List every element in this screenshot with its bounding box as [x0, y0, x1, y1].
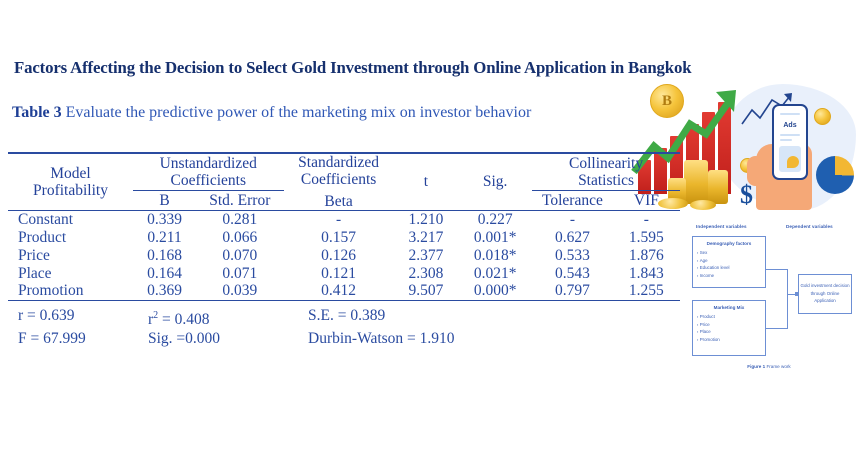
list-item: Sex: [697, 249, 765, 257]
diagram-dependent-label: Dependent variables: [786, 224, 833, 229]
col-header-standardized-line2: Coefficients: [284, 171, 394, 188]
cell-sig: 0.227: [458, 211, 532, 229]
diagram-demography-title: Demography factors: [693, 241, 765, 246]
col-header-t: t: [394, 154, 459, 210]
col-header-model-line1: Model: [8, 165, 133, 182]
connector-mix-horizontal: [766, 328, 788, 329]
cell-tolerance: 0.627: [532, 229, 613, 247]
cell-beta: 0.157: [284, 229, 394, 247]
table-caption: Table 3 Evaluate the predictive power of…: [12, 104, 531, 122]
table-row: Place 0.164 0.071 0.121 2.308 0.021* 0.5…: [8, 265, 680, 283]
cell-model: Place: [8, 265, 133, 283]
cell-std-error: 0.281: [196, 211, 283, 229]
cell-sig: 0.000*: [458, 282, 532, 300]
cell-vif: -: [613, 211, 680, 229]
col-header-standardized: Standardized Coefficients Beta: [284, 154, 394, 210]
framework-diagram: Independent variables Dependent variable…: [682, 222, 856, 382]
table-caption-text: Evaluate the predictive power of the mar…: [66, 104, 532, 121]
table-footer-statistics: r = 0.639 r2 = 0.408 S.E. = 0.389 F = 67…: [8, 301, 680, 350]
regression-table-body: Constant 0.339 0.281 - 1.210 0.227 - - P…: [8, 211, 680, 300]
col-header-std-error: Std. Error: [196, 191, 283, 210]
cell-t: 2.377: [394, 247, 459, 265]
cell-model: Product: [8, 229, 133, 247]
cell-tolerance: 0.543: [532, 265, 613, 283]
regression-table: Model Profitability Unstandardized Coeff…: [8, 154, 680, 210]
cell-b: 0.369: [133, 282, 196, 300]
diagram-box-demography: Demography factors Sex Age Education lev…: [692, 236, 766, 288]
list-item: Age: [697, 257, 765, 265]
footer-row-1: r = 0.639 r2 = 0.408 S.E. = 0.389: [8, 304, 680, 327]
cell-std-error: 0.070: [196, 247, 283, 265]
connector-demography-horizontal: [766, 269, 788, 270]
stat-f: F = 67.999: [18, 327, 86, 350]
col-header-beta: Beta: [284, 193, 394, 210]
cell-b: 0.339: [133, 211, 196, 229]
table-header-group-row: Model Profitability Unstandardized Coeff…: [8, 154, 680, 191]
pie-chart-icon: [816, 156, 854, 194]
cell-tolerance: 0.533: [532, 247, 613, 265]
cell-std-error: 0.039: [196, 282, 283, 300]
diagram-caption-text: Frame work: [766, 364, 790, 369]
stat-r: r = 0.639: [18, 304, 75, 327]
diagram-caption-label: Figure 1: [747, 364, 765, 369]
table-row: Promotion 0.369 0.039 0.412 9.507 0.000*…: [8, 282, 680, 300]
table-row: Constant 0.339 0.281 - 1.210 0.227 - -: [8, 211, 680, 229]
diagram-marketing-mix-list: Product Price Place Promotion: [693, 313, 765, 343]
col-header-unstandardized-line2: Coefficients: [133, 172, 284, 189]
cell-b: 0.211: [133, 229, 196, 247]
col-header-collinearity-line1: Collinearity: [532, 155, 680, 172]
gold-coin-large-icon: B: [650, 84, 684, 118]
cell-sig: 0.001*: [458, 229, 532, 247]
cell-model: Price: [8, 247, 133, 265]
cell-beta: 0.126: [284, 247, 394, 265]
col-header-model: Model Profitability: [8, 154, 133, 210]
col-header-standardized-line1: Standardized: [284, 154, 394, 171]
diagram-box-dependent: Gold investment decision through Online …: [798, 274, 852, 314]
cell-tolerance: -: [532, 211, 613, 229]
list-item: Product: [697, 313, 765, 321]
table-body: Constant 0.339 0.281 - 1.210 0.227 - - P…: [8, 211, 680, 300]
cell-tolerance: 0.797: [532, 282, 613, 300]
col-header-collinearity-line2: Statistics: [532, 172, 680, 189]
col-header-vif: VIF: [613, 191, 680, 210]
list-item: Promotion: [697, 336, 765, 344]
stat-r-squared-value: = 0.408: [158, 311, 209, 328]
cell-std-error: 0.066: [196, 229, 283, 247]
diagram-demography-list: Sex Age Education level Income: [693, 249, 765, 279]
smartphone-icon: Ads: [772, 104, 808, 180]
table-head: Model Profitability Unstandardized Coeff…: [8, 154, 680, 210]
stat-sig: Sig. =0.000: [148, 327, 220, 350]
cell-model: Constant: [8, 211, 133, 229]
cell-beta: 0.121: [284, 265, 394, 283]
table-row: Price 0.168 0.070 0.126 2.377 0.018* 0.5…: [8, 247, 680, 265]
cell-vif: 1.255: [613, 282, 680, 300]
coin-flat-2: [690, 200, 716, 210]
col-header-unstandardized: Unstandardized Coefficients: [133, 154, 284, 191]
coin-stack-2: [708, 170, 728, 204]
gold-coin-small-1-icon: [814, 108, 831, 125]
footer-row-2: F = 67.999 Sig. =0.000 Durbin-Watson = 1…: [8, 327, 680, 350]
cell-sig: 0.018*: [458, 247, 532, 265]
cell-t: 9.507: [394, 282, 459, 300]
table-caption-label: Table 3: [12, 104, 62, 121]
list-item: Price: [697, 321, 765, 329]
cell-model: Promotion: [8, 282, 133, 300]
diagram-dependent-line2: through Online: [799, 290, 851, 298]
cell-t: 1.210: [394, 211, 459, 229]
cell-std-error: 0.071: [196, 265, 283, 283]
list-item: Place: [697, 328, 765, 336]
diagram-independent-label: Independent variables: [696, 224, 747, 229]
stat-standard-error: S.E. = 0.389: [308, 304, 385, 327]
statistics-table: Model Profitability Unstandardized Coeff…: [8, 152, 680, 350]
cell-beta: -: [284, 211, 394, 229]
col-header-unstandardized-line1: Unstandardized: [133, 155, 284, 172]
dollar-sign-icon: $: [740, 180, 753, 210]
col-header-sig: Sig.: [458, 154, 532, 210]
coin-stack-1: [684, 160, 708, 204]
diagram-dependent-line3: Application: [799, 297, 851, 305]
cell-vif: 1.843: [613, 265, 680, 283]
col-header-tolerance: Tolerance: [532, 191, 613, 210]
diagram-marketing-mix-title: Marketing Mix: [693, 305, 765, 310]
connector-vertical: [787, 269, 788, 329]
col-header-collinearity: Collinearity Statistics: [532, 154, 680, 191]
cell-t: 2.308: [394, 265, 459, 283]
stat-durbin-watson: Durbin-Watson = 1.910: [308, 327, 455, 350]
cell-beta: 0.412: [284, 282, 394, 300]
cell-sig: 0.021*: [458, 265, 532, 283]
coin-symbol: B: [651, 85, 683, 117]
cell-vif: 1.595: [613, 229, 680, 247]
page-title: Factors Affecting the Decision to Select…: [14, 58, 856, 78]
cell-b: 0.164: [133, 265, 196, 283]
table-row: Product 0.211 0.066 0.157 3.217 0.001* 0…: [8, 229, 680, 247]
diagram-box-marketing-mix: Marketing Mix Product Price Place Promot…: [692, 300, 766, 356]
diagram-dependent-line1: Gold investment decision: [799, 282, 851, 290]
list-item: Income: [697, 272, 765, 280]
list-item: Education level: [697, 264, 765, 272]
cell-b: 0.168: [133, 247, 196, 265]
col-header-b: B: [133, 191, 196, 210]
cell-t: 3.217: [394, 229, 459, 247]
connector-arrowhead: [795, 292, 799, 296]
phone-ads-label: Ads: [774, 122, 806, 129]
cell-vif: 1.876: [613, 247, 680, 265]
col-header-model-line2: Profitability: [8, 182, 133, 199]
diagram-caption: Figure 1 Frame work: [682, 364, 856, 369]
